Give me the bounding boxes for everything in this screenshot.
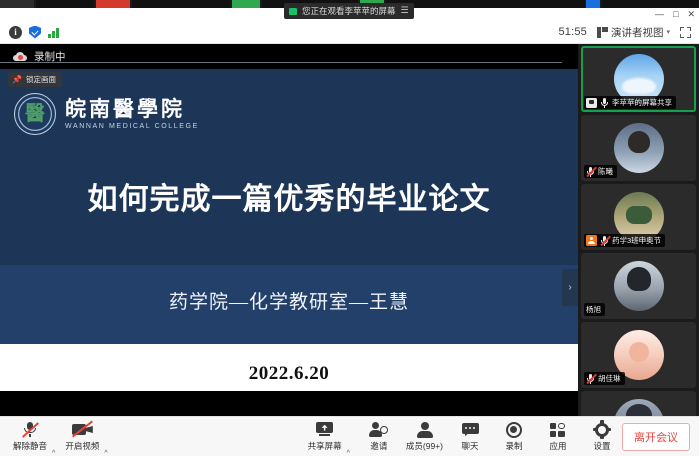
record-icon: [506, 422, 522, 438]
layout-speaker-view-icon: [597, 27, 608, 38]
share-screen-icon: [315, 422, 334, 437]
settings-button[interactable]: 设置: [582, 417, 622, 456]
participant-tile[interactable]: 胡佳琳: [581, 322, 696, 388]
zoom-meeting-window: — □ ✕ 您正在观看李苹苹的屏幕 ☰ i 51:55 演讲者视图 ▾: [0, 0, 699, 456]
participant-tile[interactable]: 药学3班申奥节: [581, 184, 696, 250]
avatar: [614, 399, 664, 416]
start-video-button-label: 开启视频: [65, 440, 99, 452]
meeting-timer: 51:55: [558, 26, 587, 38]
stage-divider-line: [0, 62, 562, 63]
apps-grid-icon: [550, 422, 567, 437]
screen-share-notice-text: 您正在观看李苹苹的屏幕: [302, 5, 396, 17]
school-branding: 醫 皖南醫學院 WANNAN MEDICAL COLLEGE: [14, 93, 199, 135]
statusbar-right-controls: 51:55 演讲者视图 ▾: [558, 25, 699, 40]
share-screen-label: 共享屏幕: [308, 440, 342, 452]
mute-button-label: 解除静音: [13, 440, 47, 452]
participant-label: 药学3班申奥节: [584, 234, 665, 247]
participant-name: 杨旭: [586, 304, 601, 315]
video-options-caret-icon[interactable]: ^: [102, 450, 112, 456]
lock-screen-label: 锁定画面: [26, 74, 56, 85]
school-name-en: WANNAN MEDICAL COLLEGE: [65, 123, 199, 130]
more-options-icon[interactable]: ☰: [401, 6, 408, 16]
apps-label: 应用: [549, 440, 566, 452]
apps-button[interactable]: 应用: [538, 417, 578, 456]
microphone-muted-icon: [586, 166, 595, 177]
participants-label: 成员(99+): [406, 440, 443, 452]
chat-bubble-icon: [462, 423, 479, 437]
microphone-muted-icon: [22, 421, 38, 438]
info-icon[interactable]: i: [9, 26, 22, 39]
participants-button[interactable]: 成员(99+): [403, 417, 446, 456]
meeting-statusbar: i 51:55 演讲者视图 ▾: [0, 21, 699, 44]
presentation-slide: 📌 锁定画面 醫 皖南醫學院 WANNAN MEDICAL COLLEGE 如何…: [0, 69, 578, 391]
start-video-button[interactable]: 开启视频: [62, 417, 102, 456]
avatar: [614, 261, 664, 311]
microphone-muted-icon: [600, 235, 609, 246]
mute-button[interactable]: 解除静音: [10, 417, 50, 456]
microphone-on-icon: [600, 97, 609, 108]
video-control-group: 开启视频 ^: [62, 417, 112, 456]
controlbar-left-group: 解除静音 ^ 开启视频 ^: [0, 417, 113, 456]
share-options-caret-icon[interactable]: ^: [345, 450, 355, 456]
camera-off-icon: [72, 422, 93, 437]
school-name-block: 皖南醫學院 WANNAN MEDICAL COLLEGE: [65, 98, 199, 130]
pin-icon: 📌: [12, 75, 22, 84]
participant-label: 陈曦: [584, 165, 617, 178]
settings-label: 设置: [593, 440, 610, 452]
share-screen-button[interactable]: 共享屏幕: [305, 417, 345, 456]
participant-tile[interactable]: 陈曦: [581, 115, 696, 181]
mute-control-group: 解除静音 ^: [10, 417, 60, 456]
participant-tile[interactable]: [581, 391, 696, 416]
shared-screen-stage[interactable]: 录制中 📌 锁定画面 醫 皖南醫學院 WANNAN MEDICAL COLLEG…: [0, 44, 578, 416]
crest-symbol: 醫: [25, 104, 45, 124]
participant-name: 李苹苹的屏幕共享: [612, 97, 672, 108]
slide-date: 2022.6.20: [0, 363, 578, 385]
avatar: [614, 123, 664, 173]
participant-label: 李苹苹的屏幕共享: [584, 96, 676, 109]
shield-icon[interactable]: [29, 26, 41, 39]
participant-name: 药学3班申奥节: [612, 235, 661, 246]
participant-label: 杨旭: [584, 303, 605, 316]
chat-button[interactable]: 聊天: [450, 417, 490, 456]
gear-icon: [594, 422, 610, 438]
fullscreen-icon[interactable]: [680, 27, 691, 38]
participant-filmstrip[interactable]: 李苹苹的屏幕共享 陈曦 药学3班申奥节: [578, 44, 699, 416]
window-controls: — □ ✕: [655, 8, 695, 21]
view-mode-label: 演讲者视图: [611, 25, 664, 40]
lock-screen-tag[interactable]: 📌 锁定画面: [8, 72, 62, 87]
audio-options-caret-icon[interactable]: ^: [50, 450, 60, 456]
participant-name: 胡佳琳: [598, 373, 621, 384]
minimize-button[interactable]: —: [655, 10, 664, 19]
school-name-cn: 皖南醫學院: [65, 98, 199, 120]
chevron-down-icon: ▾: [666, 28, 670, 36]
controlbar-center-group: 共享屏幕 ^ 邀请 成员(99+): [305, 417, 622, 456]
screen-share-badge-icon: [586, 98, 597, 108]
meeting-control-bar: 解除静音 ^ 开启视频 ^: [0, 416, 699, 456]
screen-share-notice: 您正在观看李苹苹的屏幕 ☰: [284, 3, 414, 19]
participant-tile[interactable]: 杨旭: [581, 253, 696, 319]
view-mode-selector[interactable]: 演讲者视图 ▾: [597, 25, 670, 40]
leave-meeting-button[interactable]: 离开会议: [622, 423, 690, 451]
cloud-recording-icon: [13, 52, 27, 61]
screen-share-icon: [289, 8, 297, 15]
record-label: 录制: [505, 440, 522, 452]
participant-label: 胡佳琳: [584, 372, 625, 385]
host-badge-icon: [586, 235, 597, 246]
filmstrip-collapse-handle[interactable]: ›: [562, 269, 578, 306]
slide-title: 如何完成一篇优秀的毕业论文: [0, 174, 578, 218]
share-control-group: 共享屏幕 ^: [305, 417, 355, 456]
maximize-button[interactable]: □: [673, 10, 678, 19]
chat-label: 聊天: [461, 440, 478, 452]
recording-indicator-bar: 录制中: [0, 44, 578, 69]
network-signal-icon[interactable]: [48, 27, 59, 38]
invite-user-icon: [369, 422, 388, 437]
invite-button[interactable]: 邀请: [359, 417, 399, 456]
participant-tile[interactable]: 李苹苹的屏幕共享: [581, 46, 696, 112]
close-button[interactable]: ✕: [687, 10, 695, 19]
school-crest-logo: 醫: [14, 93, 56, 135]
record-button[interactable]: 录制: [494, 417, 534, 456]
statusbar-left-icons: i: [0, 26, 59, 39]
participant-name: 陈曦: [598, 166, 613, 177]
invite-label: 邀请: [370, 440, 387, 452]
microphone-muted-icon: [586, 373, 595, 384]
slide-subtitle: 药学院—化学教研室—王慧: [0, 287, 578, 314]
participants-icon: [416, 422, 433, 437]
